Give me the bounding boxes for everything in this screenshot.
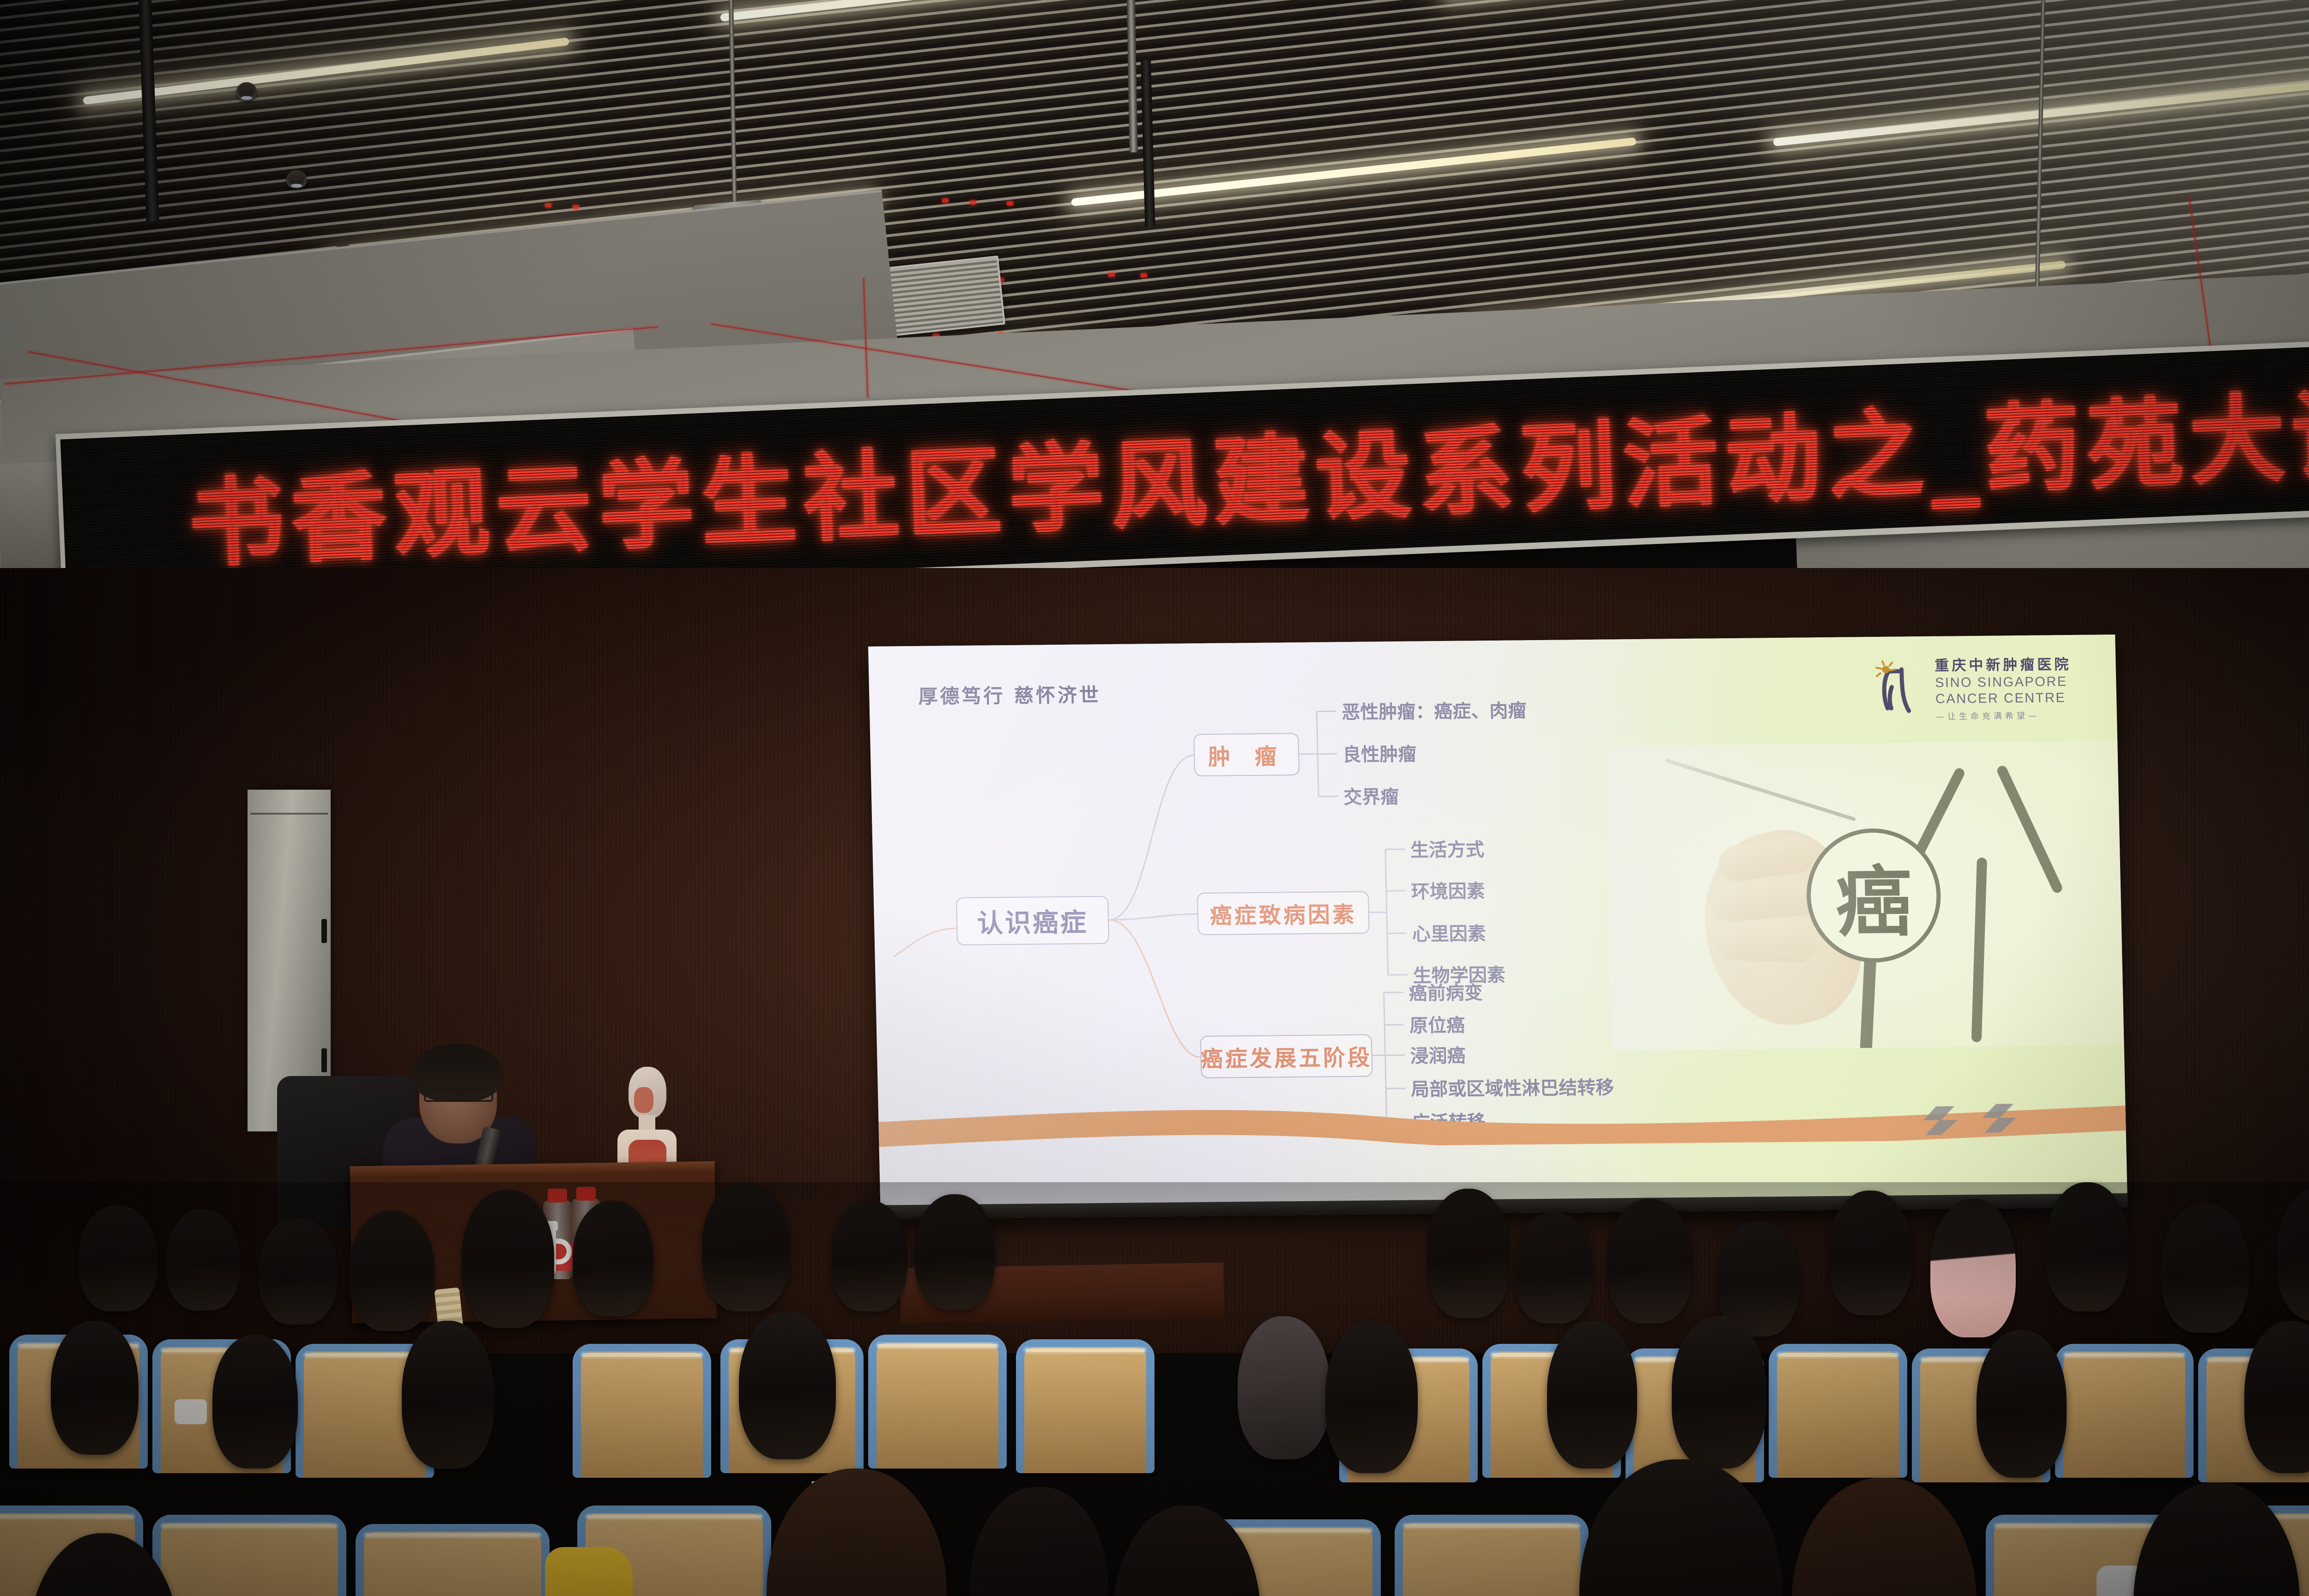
mindmap-leaf: 原位癌 <box>1409 1010 1465 1038</box>
audience-head <box>259 1218 337 1324</box>
audience-head <box>573 1201 653 1316</box>
audience-head <box>1672 1316 1766 1469</box>
auditorium-seat <box>868 1335 1007 1469</box>
ceiling-spot-light <box>236 82 257 101</box>
audience-head-foreground <box>1792 1478 1977 1596</box>
mindmap-leaf: 良性肿瘤 <box>1342 739 1417 767</box>
presenter-glasses-icon <box>424 1088 493 1102</box>
audience-head <box>349 1211 435 1331</box>
door-handle-icon[interactable] <box>321 919 327 943</box>
mindmap-leaf: 恶性肿瘤：癌症、肉瘤 <box>1342 695 1527 724</box>
audience-head <box>914 1194 995 1310</box>
mindmap-leaf: 生活方式 <box>1410 834 1484 862</box>
audience-head <box>831 1201 907 1312</box>
door-lower-handle-icon[interactable] <box>321 1048 327 1072</box>
mindmap-leaf: 交界瘤 <box>1343 782 1399 809</box>
mindmap-leaf: 环境因素 <box>1411 876 1485 904</box>
ceiling-spot-light <box>286 170 307 188</box>
audience-seating <box>0 1182 2309 1596</box>
auditorium-seat <box>1016 1339 1154 1473</box>
auditorium-seat <box>356 1524 550 1596</box>
audience-head <box>702 1182 790 1312</box>
lecture-hall-photo: 书香观云学生社区学风建设系列活动之_药苑大讲堂 厚德笃行 慈怀济世 <box>0 0 2309 1596</box>
audience-head <box>1977 1330 2067 1478</box>
face-mask <box>175 1399 207 1424</box>
audience-head <box>79 1205 157 1312</box>
mindmap-root-node: 认识癌症 <box>956 896 1109 945</box>
auditorium-seat <box>1769 1344 1907 1478</box>
audience-head-foreground <box>2134 1482 2300 1596</box>
audience-head <box>1238 1316 1330 1459</box>
audience-head <box>462 1190 554 1328</box>
auditorium-seat <box>2055 1344 2194 1478</box>
mindmap-branch-label: 肿 瘤 <box>1208 738 1285 771</box>
audience-head <box>51 1321 139 1455</box>
audience-head <box>1515 1213 1593 1324</box>
auditorium-seat <box>152 1515 346 1596</box>
audience-head <box>1930 1199 2016 1337</box>
audience-head <box>2277 1187 2309 1321</box>
auditorium-seat <box>573 1344 711 1478</box>
audience-yellow-shirt <box>545 1547 633 1596</box>
audience-head <box>1607 1199 1692 1324</box>
presentation-slide: 厚德笃行 慈怀济世 <box>868 635 2128 1206</box>
audience-head <box>212 1335 298 1469</box>
audience-head <box>2046 1182 2129 1312</box>
mindmap-branch-node-1: 肿 瘤 <box>1193 733 1300 776</box>
audience-head <box>739 1312 836 1459</box>
audience-head <box>402 1321 494 1469</box>
mindmap-branch-node-2: 癌症致病因素 <box>1197 891 1370 936</box>
mindmap-branch-node-3: 癌症发展五阶段 <box>1200 1034 1373 1079</box>
mindmap-leaf: 浸润癌 <box>1410 1041 1466 1068</box>
mindmap-leaf: 心里因素 <box>1412 919 1486 946</box>
audience-head <box>1427 1189 1510 1318</box>
mindmap-leaf: 癌前病变 <box>1408 978 1483 1005</box>
audience-head <box>1829 1191 1912 1315</box>
auditorium-seat <box>1395 1515 1589 1596</box>
projection-screen: 厚德笃行 慈怀济世 <box>868 635 2128 1219</box>
torso-model-face <box>634 1087 653 1113</box>
audience-head <box>1325 1321 1418 1473</box>
audience-head <box>1547 1321 1637 1469</box>
audience-head <box>2161 1203 2249 1333</box>
mindmap-branch-label: 癌症发展五阶段 <box>1200 1040 1372 1074</box>
mindmap-branch-label: 癌症致病因素 <box>1209 896 1357 930</box>
audience-head-foreground <box>767 1469 947 1596</box>
audience-head <box>2244 1321 2309 1473</box>
audience-head-foreground <box>970 1487 1108 1596</box>
door-header-line <box>250 813 328 815</box>
audience-head <box>166 1209 240 1311</box>
